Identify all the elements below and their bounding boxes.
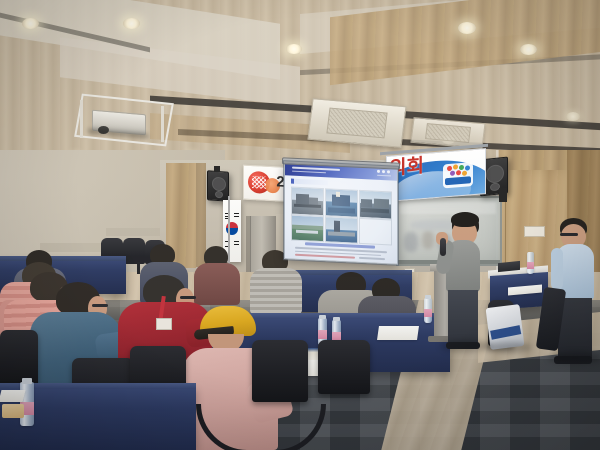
bottle-cap [425, 295, 431, 299]
floor-shadow [548, 352, 600, 364]
standing-attendee-glasses [560, 233, 578, 236]
wall-accent-strip [106, 228, 164, 236]
attendee-back-row-maroon-body [194, 263, 240, 305]
speaker-bracket [214, 166, 220, 172]
name-badge [156, 318, 172, 330]
wall-speaker-left [207, 170, 229, 202]
chair[interactable] [318, 340, 370, 394]
water-bottle[interactable] [424, 298, 432, 323]
chair[interactable] [0, 330, 38, 388]
ceiling-downlight [123, 18, 140, 29]
document-sheet[interactable] [377, 326, 419, 340]
bottle-cap [22, 378, 32, 384]
empty-chair[interactable] [123, 238, 145, 264]
ceiling-downlight [458, 22, 476, 34]
projector-mount-rod [161, 106, 164, 142]
attendee-red-polo-glasses [180, 296, 196, 299]
snack-pack[interactable] [2, 404, 24, 418]
document-sheet[interactable] [0, 390, 25, 402]
conference-room-photo: 20 의회 [0, 0, 600, 450]
attendee-striped-shirt-body [250, 268, 302, 314]
door-sign [524, 226, 545, 237]
presenter-hair-top [451, 212, 479, 227]
ceiling-downlight [520, 44, 537, 55]
ceiling-downlight [286, 44, 302, 54]
attendee-blue-jacket-glasses [92, 304, 108, 307]
standing-attendee-arm [551, 248, 563, 290]
ceiling-ac-unit [307, 98, 406, 148]
back-pillar-shadow [246, 216, 251, 278]
microphone[interactable] [440, 238, 446, 256]
bottle-cap [319, 315, 326, 319]
projector-mount-rod [80, 100, 83, 138]
ceiling-downlight [22, 18, 39, 29]
presenter-legs [448, 290, 478, 344]
speaker-bracket [499, 188, 507, 202]
floor-shadow [440, 340, 492, 352]
chair[interactable] [252, 340, 308, 402]
projection-screen-frame [283, 160, 399, 266]
ceiling-downlight [566, 112, 580, 121]
floor-shadow [486, 342, 532, 353]
table-top [0, 256, 126, 261]
chair-frame [196, 404, 326, 450]
water-bottle[interactable] [527, 252, 534, 274]
bottle-cap [333, 317, 340, 321]
